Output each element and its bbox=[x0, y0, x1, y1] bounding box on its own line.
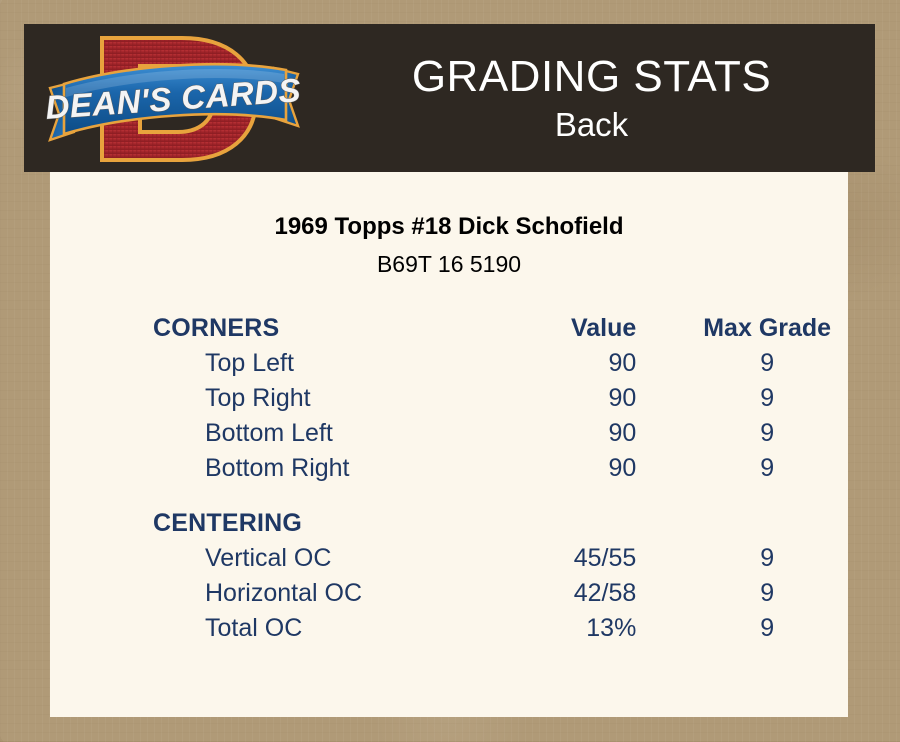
row-max-grade: 9 bbox=[686, 576, 848, 611]
row-value: 90 bbox=[498, 346, 687, 381]
row-max-grade: 9 bbox=[686, 451, 848, 486]
row-value: 45/55 bbox=[498, 541, 687, 576]
section-title-corners: CORNERS bbox=[50, 311, 498, 346]
row-label: Bottom Right bbox=[50, 451, 498, 486]
row-value: 90 bbox=[498, 381, 687, 416]
row-value: 90 bbox=[498, 451, 687, 486]
row-max-grade: 9 bbox=[686, 611, 848, 646]
table-row: Bottom Right 90 9 bbox=[50, 451, 848, 486]
header-title-group: GRADING STATS Back bbox=[308, 24, 875, 172]
table-row: Top Right 90 9 bbox=[50, 381, 848, 416]
section-header-row-centering: CENTERING bbox=[50, 506, 848, 541]
table-row: Top Left 90 9 bbox=[50, 346, 848, 381]
row-max-grade: 9 bbox=[686, 381, 848, 416]
row-value: 13% bbox=[498, 611, 687, 646]
row-label: Total OC bbox=[50, 611, 498, 646]
page-title: GRADING STATS bbox=[412, 51, 771, 103]
row-value: 42/58 bbox=[498, 576, 687, 611]
row-max-grade: 9 bbox=[686, 541, 848, 576]
section-header-row-corners: CORNERS Value Max Grade bbox=[50, 311, 848, 346]
content-panel: 1969 Topps #18 Dick Schofield B69T 16 51… bbox=[50, 172, 848, 717]
grading-stats-body: CORNERS Value Max Grade Top Left 90 9 To… bbox=[50, 311, 848, 646]
row-label: Horizontal OC bbox=[50, 576, 498, 611]
grading-stats-table: CORNERS Value Max Grade Top Left 90 9 To… bbox=[50, 311, 848, 646]
section-grade-placeholder bbox=[686, 506, 848, 541]
deans-cards-logo: DEAN'S CARDS bbox=[40, 26, 308, 172]
section-spacer bbox=[50, 486, 848, 506]
card-title: 1969 Topps #18 Dick Schofield bbox=[50, 212, 848, 242]
section-value-placeholder bbox=[498, 506, 687, 541]
row-label: Top Right bbox=[50, 381, 498, 416]
table-row: Bottom Left 90 9 bbox=[50, 416, 848, 451]
column-header-value: Value bbox=[498, 311, 687, 346]
row-label: Bottom Left bbox=[50, 416, 498, 451]
card-code: B69T 16 5190 bbox=[50, 250, 848, 279]
row-value: 90 bbox=[498, 416, 687, 451]
row-label: Top Left bbox=[50, 346, 498, 381]
table-row: Vertical OC 45/55 9 bbox=[50, 541, 848, 576]
table-row: Total OC 13% 9 bbox=[50, 611, 848, 646]
row-max-grade: 9 bbox=[686, 346, 848, 381]
header-bar: DEAN'S CARDS GRADING STATS Back bbox=[24, 24, 875, 172]
column-header-max-grade: Max Grade bbox=[686, 311, 848, 346]
row-max-grade: 9 bbox=[686, 416, 848, 451]
row-label: Vertical OC bbox=[50, 541, 498, 576]
page-subtitle: Back bbox=[555, 105, 628, 145]
section-title-centering: CENTERING bbox=[50, 506, 498, 541]
table-row: Horizontal OC 42/58 9 bbox=[50, 576, 848, 611]
